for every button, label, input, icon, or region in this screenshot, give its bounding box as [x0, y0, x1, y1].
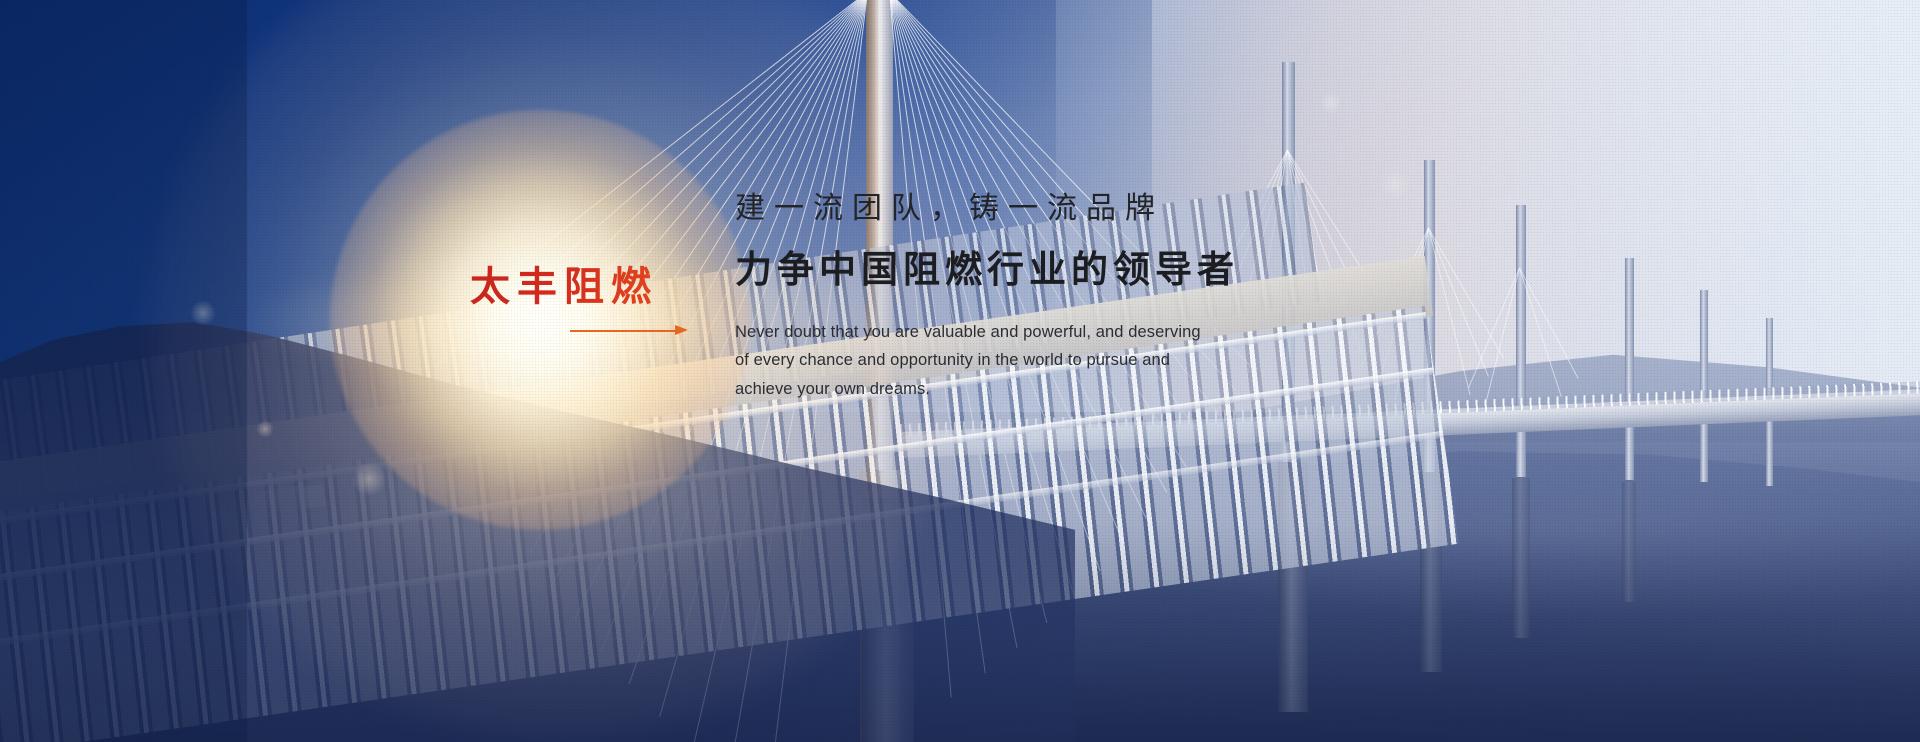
- headline-title: 力争中国阻燃行业的领导者: [735, 248, 1355, 292]
- brand-logo-text: 太丰阻燃: [470, 265, 730, 309]
- hero-banner: 太丰阻燃 建一流团队，铸一流品牌 力争中国阻燃行业的领导者 Never doub…: [0, 0, 1920, 742]
- description-line-3: achieve your own dreams.: [735, 375, 1355, 403]
- hero-copy-block: 建一流团队，铸一流品牌 力争中国阻燃行业的领导者 Never doubt tha…: [735, 190, 1355, 403]
- brand-logo[interactable]: 太丰阻燃: [470, 265, 730, 337]
- right-arrow-icon: [570, 325, 688, 337]
- hero-description: Never doubt that you are valuable and po…: [735, 318, 1355, 403]
- description-line-2: of every chance and opportunity in the w…: [735, 346, 1355, 374]
- headline-subtitle: 建一流团队，铸一流品牌: [735, 190, 1355, 228]
- description-line-1: Never doubt that you are valuable and po…: [735, 318, 1355, 346]
- arrow-head: [675, 325, 688, 335]
- arrow-shaft: [570, 330, 678, 332]
